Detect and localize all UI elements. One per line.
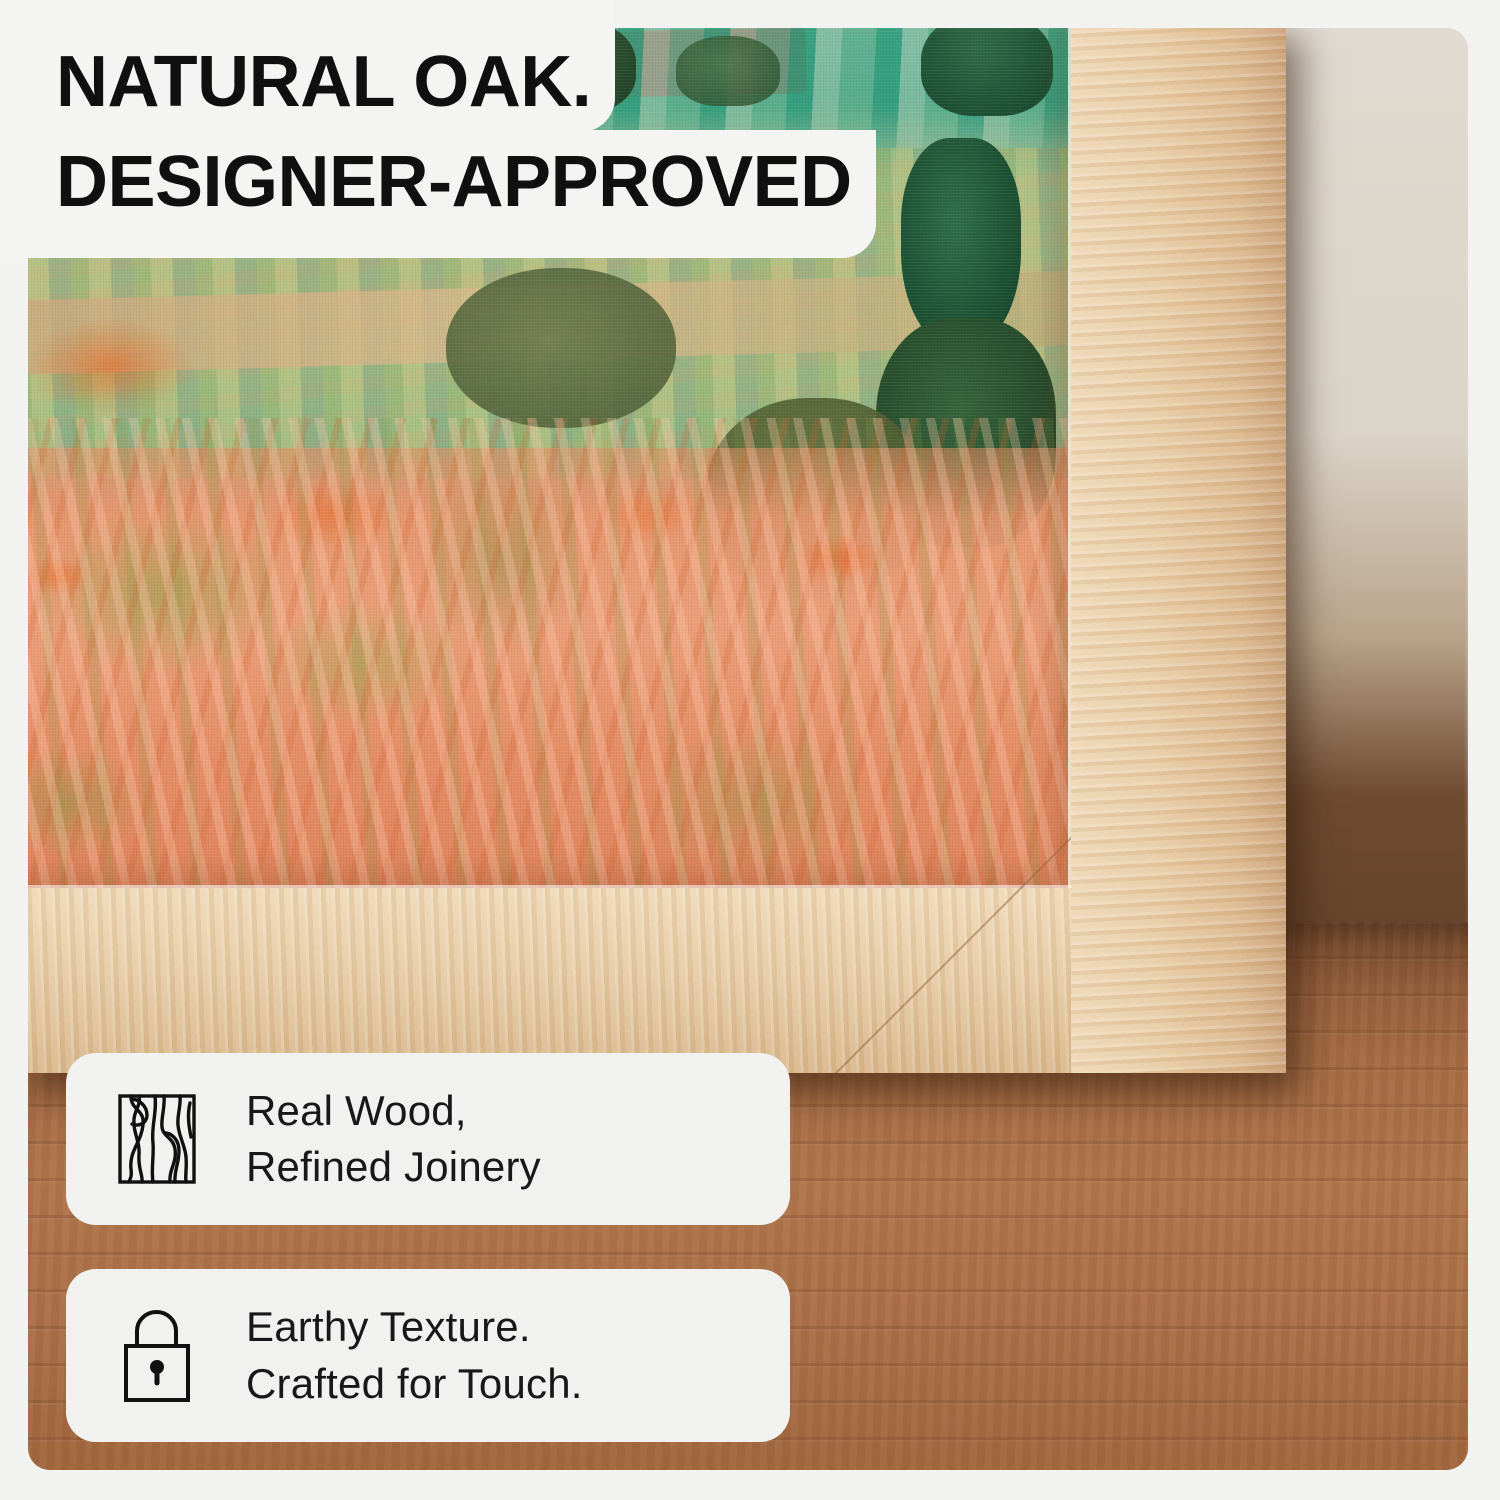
feature-card-list: Real Wood, Refined Joinery Earthy Textur… [66, 1053, 790, 1442]
feature-card-real-wood[interactable]: Real Wood, Refined Joinery [66, 1053, 790, 1226]
headline-badge-group: NATURAL OAK. DESIGNER-APPROVED [0, 0, 876, 258]
feature-card-label: Real Wood, Refined Joinery [246, 1083, 541, 1196]
feature-card-label: Earthy Texture. Crafted for Touch. [246, 1299, 583, 1412]
stile-highlight-edge [1068, 28, 1071, 888]
product-marketing-canvas: NATURAL OAK. DESIGNER-APPROVED Real Wood… [0, 0, 1500, 1500]
headline-line-2: DESIGNER-APPROVED [0, 130, 876, 258]
feature-card-earthy-texture[interactable]: Earthy Texture. Crafted for Touch. [66, 1269, 790, 1442]
frame-miter-joint [809, 811, 1071, 1073]
padlock-icon [112, 1308, 202, 1404]
headline-line-1: NATURAL OAK. [0, 0, 615, 132]
stile-grain-texture [1071, 28, 1286, 1073]
wood-grain-icon [112, 1091, 202, 1187]
frame-right-stile [1071, 28, 1286, 1073]
